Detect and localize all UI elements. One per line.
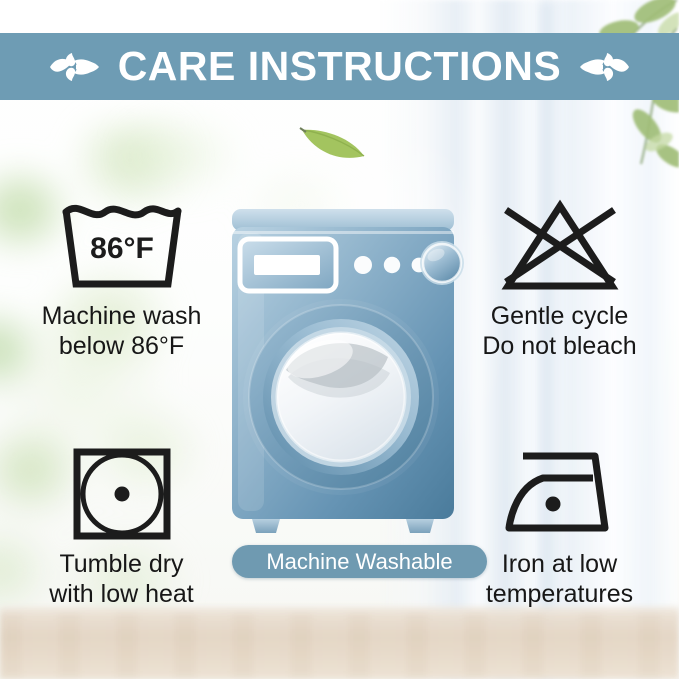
care-symbol-tumble-dry: Tumble dry with low heat	[14, 444, 229, 609]
care-symbol-label: Gentle cycle Do not bleach	[482, 302, 636, 361]
triangle-crossed-bleach-icon	[490, 196, 630, 296]
machine-washable-badge: Machine Washable	[232, 545, 487, 578]
tumble-dry-low-icon	[67, 444, 177, 544]
indicator-light-icon	[354, 256, 372, 274]
care-symbol-label: Tumble dry with low heat	[49, 550, 194, 609]
wash-temperature-value: 86°F	[90, 232, 154, 265]
fleur-de-lis-icon	[579, 45, 631, 89]
care-symbol-iron: Iron at low temperatures	[452, 444, 667, 609]
care-symbol-label: Iron at low temperatures	[486, 550, 633, 609]
indicator-light-icon	[384, 257, 400, 273]
machine-foot-icon	[406, 519, 434, 533]
machine-foot-icon	[252, 519, 280, 533]
care-symbol-machine-wash: 86°F Machine wash below 86°F	[14, 196, 229, 361]
fleur-de-lis-icon	[48, 45, 100, 89]
wash-tub-icon: 86°F	[52, 196, 192, 296]
banner: CARE INSTRUCTIONS	[0, 33, 679, 100]
care-symbol-do-not-bleach: Gentle cycle Do not bleach	[452, 196, 667, 361]
care-instructions-infographic: CARE INSTRUCTIONS 86°F Machine wash belo…	[0, 0, 679, 679]
table-grain	[0, 613, 679, 679]
iron-low-icon	[495, 444, 625, 544]
care-symbol-label: Machine wash below 86°F	[42, 302, 202, 361]
control-knob-icon	[418, 239, 466, 287]
machine-washable-badge-text: Machine Washable	[266, 551, 452, 573]
banner-title: CARE INSTRUCTIONS	[118, 46, 562, 87]
single-leaf-icon	[298, 122, 368, 164]
